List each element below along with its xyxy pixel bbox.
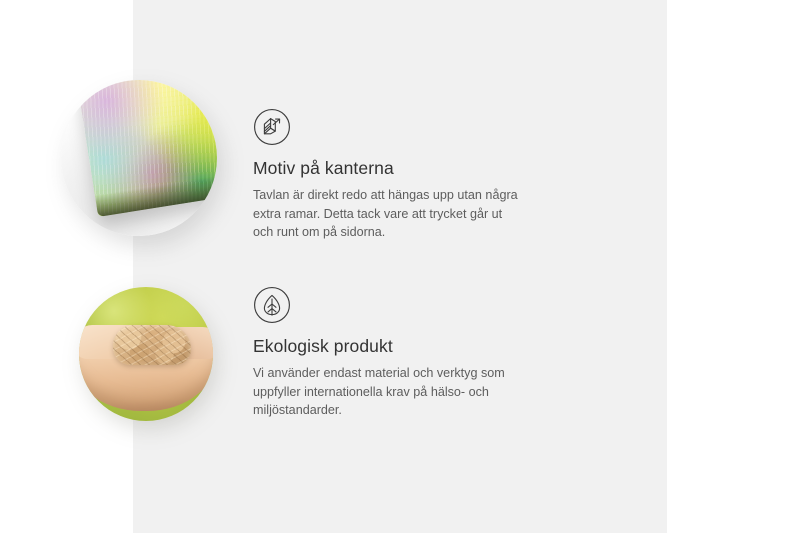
wood-chips-photo — [79, 287, 213, 421]
feature-text-canvas-edges: Motiv på kanterna Tavlan är direkt redo … — [253, 108, 523, 242]
canvas-print-object — [78, 80, 217, 217]
feature-text-eco-product: Ekologisk produkt Vi använder endast mat… — [253, 286, 523, 420]
wood-chips-pile — [113, 325, 191, 365]
feature-title: Motiv på kanterna — [253, 158, 523, 179]
leaf-icon — [253, 286, 291, 324]
feature-title: Ekologisk produkt — [253, 336, 523, 357]
feature-description: Tavlan är direkt redo att hängas upp uta… — [253, 186, 523, 242]
canvas-wrap-icon — [253, 108, 291, 146]
feature-description: Vi använder endast material och verktyg … — [253, 364, 523, 420]
canvas-print-photo — [61, 80, 217, 236]
product-feature-graphic: Motiv på kanterna Tavlan är direkt redo … — [0, 0, 800, 533]
